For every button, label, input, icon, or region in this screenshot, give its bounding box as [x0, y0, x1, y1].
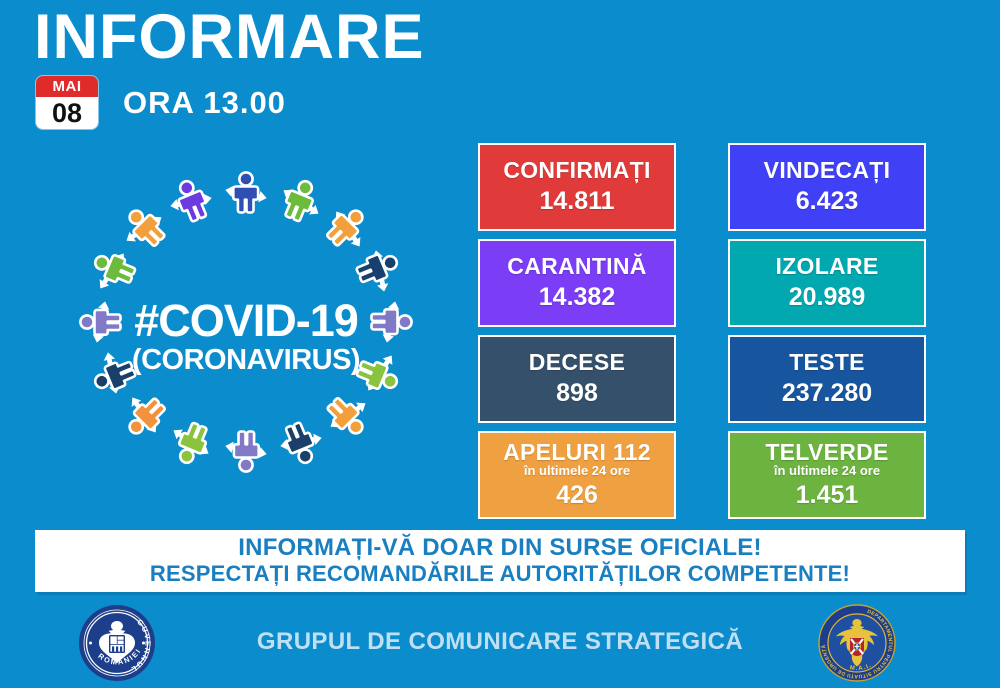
dsu-mai-emblem-icon: DEPARTAMENTUL PENTRU SITUAȚII DE URGENȚĂ… — [818, 604, 896, 687]
calendar-icon: MAI 08 — [36, 76, 98, 129]
stat-telverde: TELVERDE în ultimele 24 ore 1.451 — [728, 431, 926, 519]
covid-people-circle-icon: #COVID-19 (CORONAVIRUS) — [36, 168, 456, 513]
stat-value: 237.280 — [782, 378, 872, 408]
stat-label: VINDECAȚI — [764, 158, 891, 182]
page-title: INFORMARE — [34, 6, 424, 69]
stat-value: 898 — [556, 378, 598, 408]
stat-value: 1.451 — [796, 480, 859, 510]
statistics-grid: CONFIRMAȚI 14.811 VINDECAȚI 6.423 CARANT… — [478, 143, 928, 519]
stat-value: 426 — [556, 480, 598, 510]
stat-apeluri-112: APELURI 112 în ultimele 24 ore 426 — [478, 431, 676, 519]
stat-sublabel: în ultimele 24 ore — [774, 464, 880, 478]
stat-value: 14.811 — [539, 186, 614, 216]
stat-label: TELVERDE — [765, 440, 888, 464]
stat-confirmati: CONFIRMAȚI 14.811 — [478, 143, 676, 231]
stat-decese: DECESE 898 — [478, 335, 676, 423]
stat-label: CONFIRMAȚI — [503, 158, 650, 182]
stat-label: IZOLARE — [775, 254, 878, 278]
stat-label: TESTE — [789, 350, 865, 374]
hour-label: ORA 13.00 — [123, 85, 286, 121]
stat-value: 20.989 — [789, 282, 865, 312]
stat-label: APELURI 112 — [503, 440, 651, 464]
infographic-poster: INFORMARE MAI 08 ORA 13.00 — [0, 0, 1000, 688]
stat-izolare: IZOLARE 20.989 — [728, 239, 926, 327]
stat-value: 6.423 — [796, 186, 859, 216]
stat-carantina: CARANTINĂ 14.382 — [478, 239, 676, 327]
official-sources-banner: INFORMAȚI-VĂ DOAR DIN SURSE OFICIALE! RE… — [35, 530, 965, 592]
date-bar: MAI 08 ORA 13.00 — [36, 76, 286, 129]
banner-line-1: INFORMAȚI-VĂ DOAR DIN SURSE OFICIALE! — [238, 535, 761, 562]
stat-teste: TESTE 237.280 — [728, 335, 926, 423]
banner-line-2: RESPECTAȚI RECOMANDĂRILE AUTORITĂȚILOR C… — [150, 562, 850, 587]
calendar-day: 08 — [36, 97, 98, 129]
stat-vindecati: VINDECAȚI 6.423 — [728, 143, 926, 231]
stat-label: DECESE — [529, 350, 625, 374]
footer: GUVERNUL ROMÂNIEI GRUPUL DE COMUNICARE S… — [0, 600, 1000, 688]
calendar-month: MAI — [36, 76, 98, 97]
stat-label: CARANTINĂ — [507, 254, 646, 278]
stat-value: 14.382 — [539, 282, 615, 312]
stat-sublabel: în ultimele 24 ore — [524, 464, 630, 478]
